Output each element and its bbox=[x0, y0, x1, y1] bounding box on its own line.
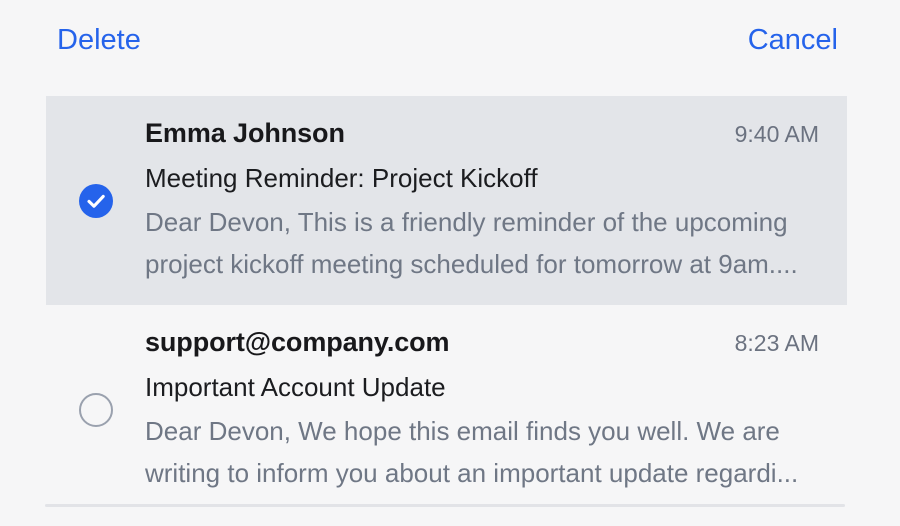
email-subject: Important Account Update bbox=[145, 368, 819, 406]
selection-action-bar: Delete Cancel bbox=[0, 0, 900, 96]
delete-button[interactable]: Delete bbox=[57, 22, 141, 58]
cancel-button[interactable]: Cancel bbox=[748, 22, 838, 58]
email-sender: support@company.com bbox=[145, 324, 449, 360]
email-timestamp: 8:23 AM bbox=[721, 325, 819, 361]
list-divider bbox=[45, 504, 845, 507]
circle-outline-icon[interactable] bbox=[79, 393, 113, 427]
email-timestamp: 9:40 AM bbox=[721, 116, 819, 152]
email-header-line: support@company.com 8:23 AM bbox=[145, 324, 819, 361]
email-preview: Dear Devon, This is a friendly reminder … bbox=[145, 201, 805, 285]
email-list-item[interactable]: Emma Johnson 9:40 AM Meeting Reminder: P… bbox=[46, 96, 847, 305]
email-sender: Emma Johnson bbox=[145, 115, 345, 151]
email-list: Emma Johnson 9:40 AM Meeting Reminder: P… bbox=[0, 96, 900, 514]
check-circle-filled-icon[interactable] bbox=[79, 184, 113, 218]
email-list-item[interactable]: support@company.com 8:23 AM Important Ac… bbox=[46, 305, 847, 514]
email-preview: Dear Devon, We hope this email finds you… bbox=[145, 410, 805, 494]
email-content: Emma Johnson 9:40 AM Meeting Reminder: P… bbox=[145, 115, 847, 285]
email-content: support@company.com 8:23 AM Important Ac… bbox=[145, 324, 847, 494]
email-header-line: Emma Johnson 9:40 AM bbox=[145, 115, 819, 152]
email-subject: Meeting Reminder: Project Kickoff bbox=[145, 159, 819, 197]
